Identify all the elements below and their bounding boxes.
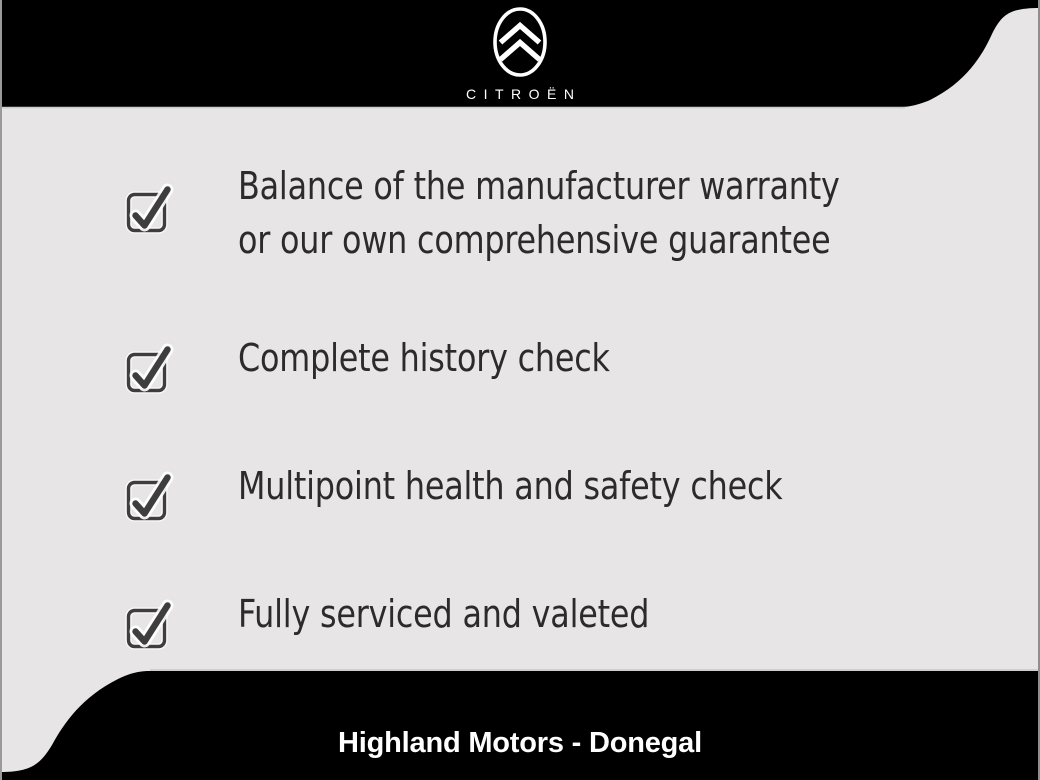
list-item-label: Balance of the manufacturer warranty or … — [238, 160, 840, 268]
checked-checkbox-icon — [122, 470, 176, 524]
footer-bar: Highland Motors - Donegal — [0, 655, 1040, 780]
list-item: Balance of the manufacturer warranty or … — [0, 160, 1040, 268]
list-item-label: Complete history check — [238, 332, 610, 386]
list-item-label: Fully serviced and valeted — [238, 588, 649, 642]
list-item-label: Multipoint health and safety check — [238, 460, 783, 514]
list-item: Multipoint health and safety check — [0, 460, 1040, 524]
list-item: Complete history check — [0, 332, 1040, 396]
header-bar — [0, 0, 1040, 112]
checked-checkbox-icon — [122, 598, 176, 652]
checked-checkbox-icon — [122, 342, 176, 396]
checked-checkbox-icon — [122, 182, 176, 236]
feature-checklist: Balance of the manufacturer warranty or … — [0, 112, 1040, 707]
promo-slide: CITROËN Balance of the manufacturer warr… — [0, 0, 1040, 780]
list-item: Fully serviced and valeted — [0, 588, 1040, 652]
